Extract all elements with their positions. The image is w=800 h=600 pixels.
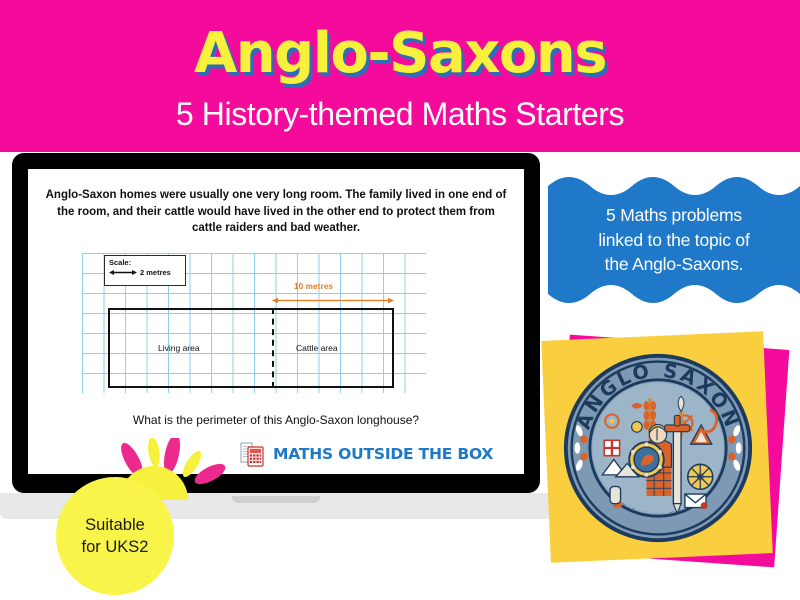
longhouse-diagram: Scale: 2 metres 10 metres: [82, 253, 426, 393]
measurement-arrow-icon: [272, 296, 394, 305]
slide-intro-text: Anglo-Saxon homes were usually one very …: [42, 187, 510, 237]
laptop-trackpad-notch: [232, 496, 320, 503]
scale-key-label: Scale:: [109, 258, 181, 267]
page-subtitle: 5 History-themed Maths Starters: [176, 98, 624, 130]
info-panel-line-2: linked to the topic of: [598, 228, 749, 253]
longhouse-rectangle: [108, 308, 394, 388]
info-panel-text: 5 Maths problems linked to the topic of …: [548, 172, 800, 308]
laptop-mockup: Anglo-Saxon homes were usually one very …: [12, 153, 540, 528]
anglo-saxon-seal-stamp: ANGLO SAXON MATHS: [538, 330, 800, 600]
badge-line-2: for UKS2: [82, 536, 149, 558]
brand-logo: MATHS OUTSIDE THE BOX: [240, 441, 493, 467]
poster-canvas: Anglo-Saxons 5 History-themed Maths Star…: [0, 0, 800, 600]
suitability-badge: Suitable for UKS2: [56, 477, 174, 595]
scale-key-value: 2 metres: [140, 268, 171, 277]
cattle-area-label: Cattle area: [296, 343, 338, 353]
slide-preview: Anglo-Saxon homes were usually one very …: [28, 169, 524, 474]
info-panel-line-3: the Anglo-Saxons.: [605, 252, 744, 277]
brand-logo-text: MATHS OUTSIDE THE BOX: [273, 445, 493, 463]
living-area-label: Living area: [158, 343, 200, 353]
info-panel: 5 Maths problems linked to the topic of …: [548, 172, 800, 308]
laptop-screen-bezel: Anglo-Saxon homes were usually one very …: [12, 153, 540, 493]
seal-emblem-icon: ANGLO SAXON MATHS: [562, 352, 754, 544]
double-arrow-icon: [109, 268, 137, 277]
scale-key-box: Scale: 2 metres: [104, 255, 186, 286]
measurement-label: 10 metres: [294, 282, 333, 291]
header-banner: Anglo-Saxons 5 History-themed Maths Star…: [0, 0, 800, 152]
badge-line-1: Suitable: [85, 514, 145, 536]
info-panel-line-1: 5 Maths problems: [606, 203, 742, 228]
page-title: Anglo-Saxons: [194, 26, 606, 82]
calculator-notepad-icon: [240, 441, 266, 467]
longhouse-divider: [272, 308, 274, 388]
slide-question-text: What is the perimeter of this Anglo-Saxo…: [42, 413, 510, 427]
